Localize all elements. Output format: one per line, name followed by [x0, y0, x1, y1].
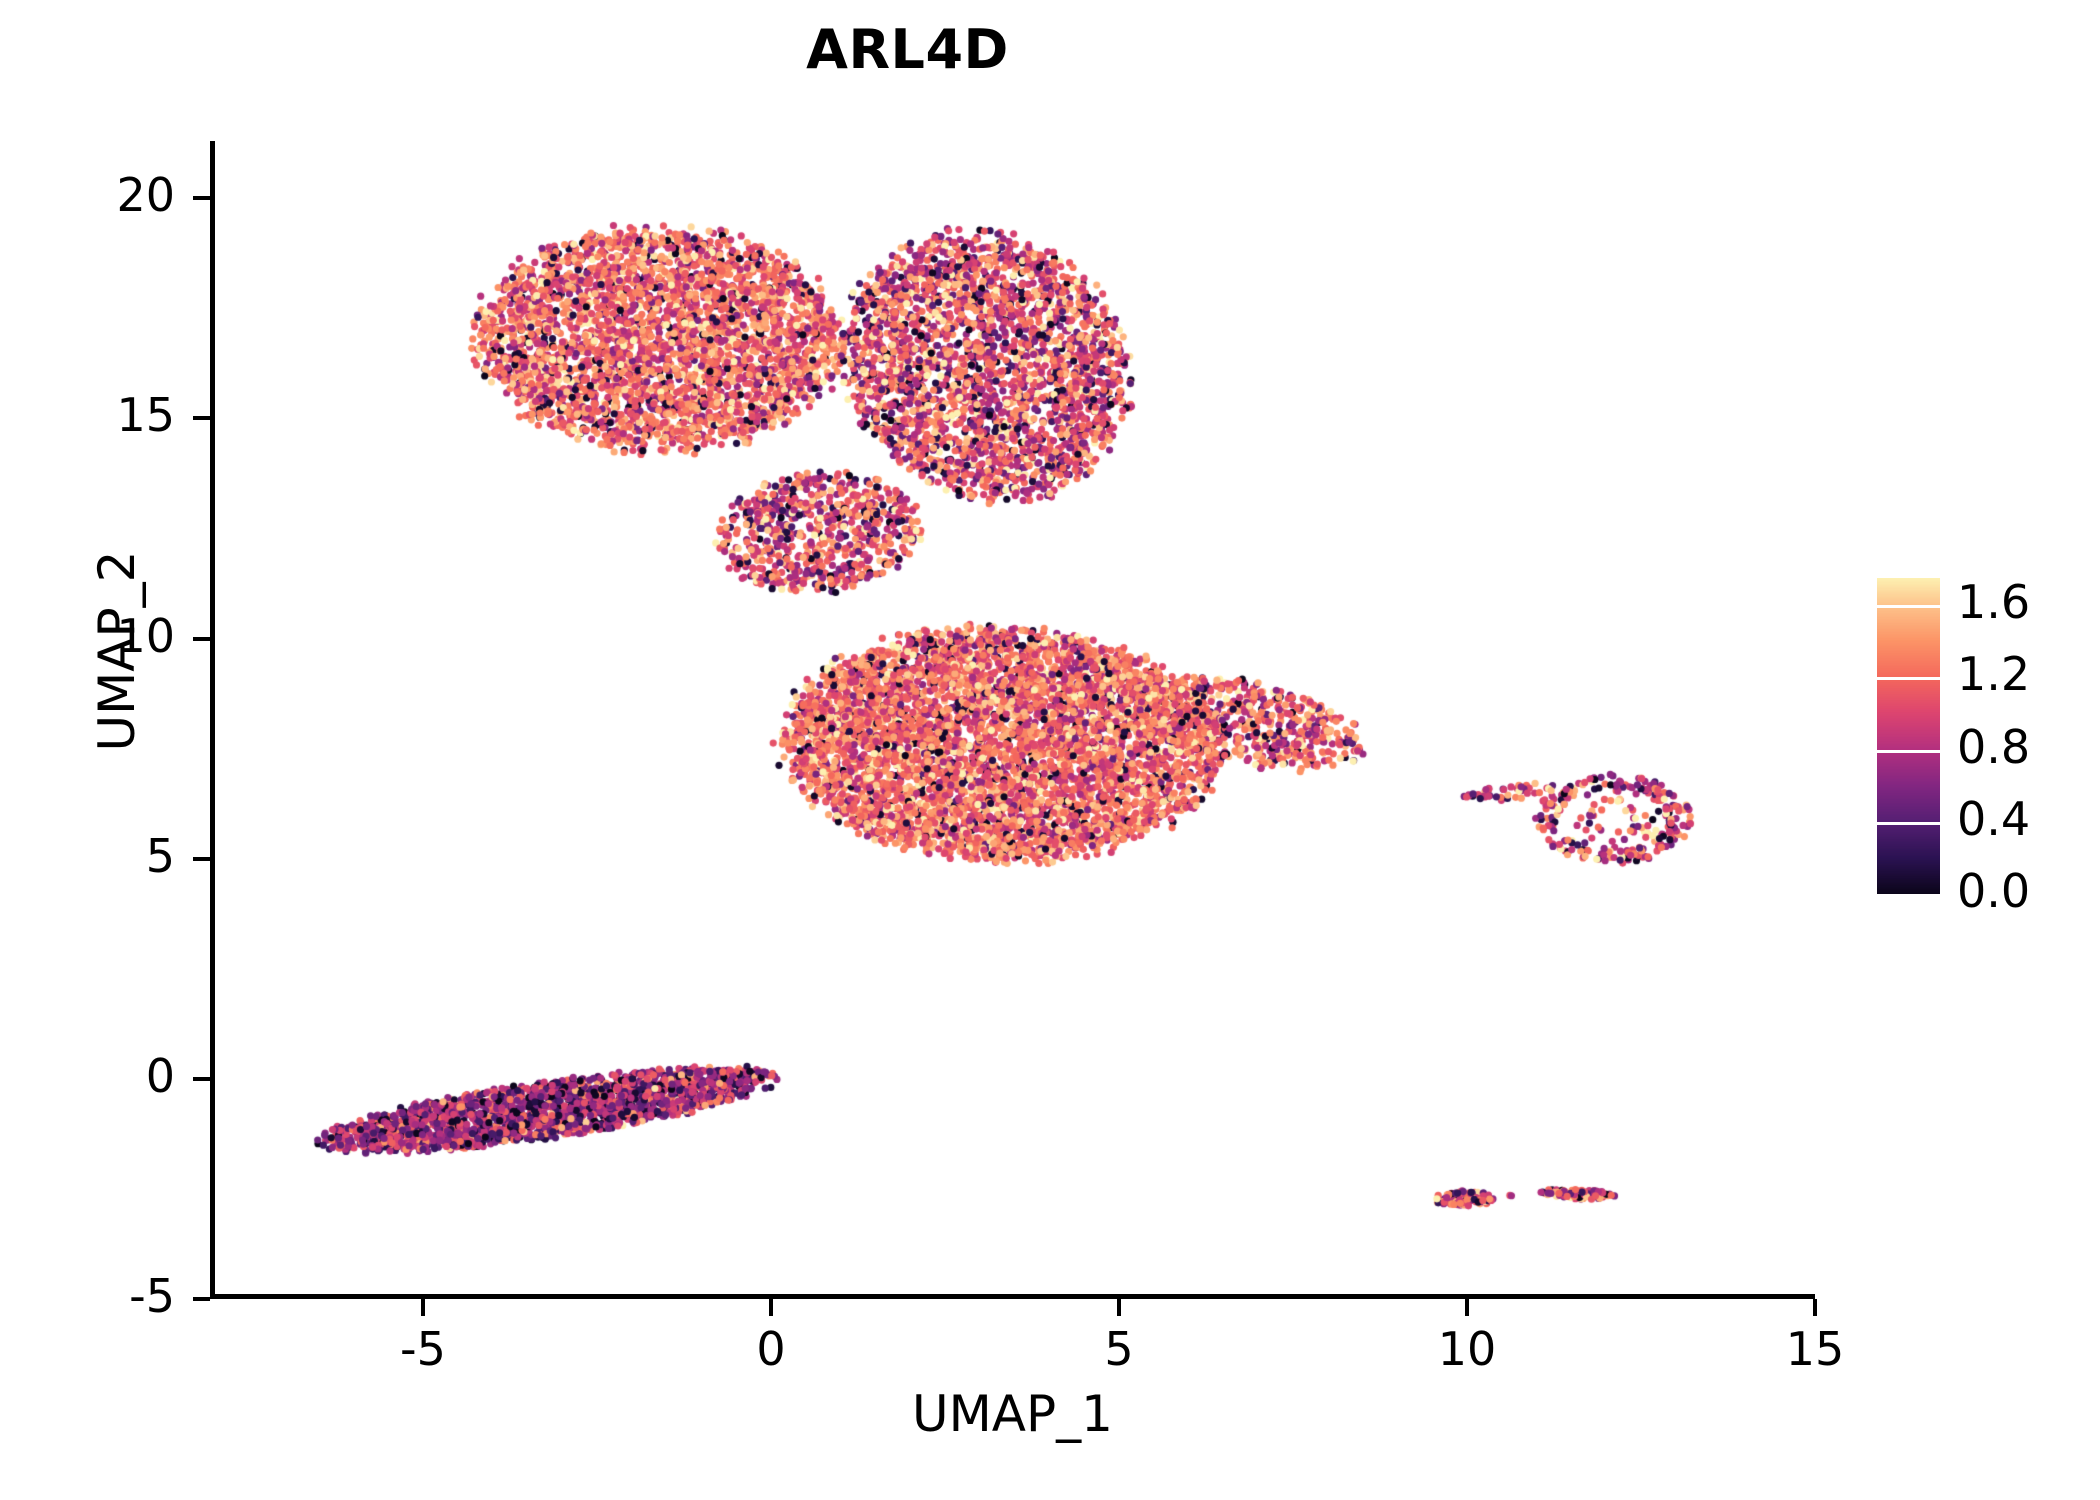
- x-tick-label: 10: [1387, 1326, 1547, 1372]
- scatter-points-layer: [210, 141, 1815, 1299]
- colorbar-tick-label: 0.0: [1957, 868, 2030, 914]
- y-tick-mark: [193, 1297, 210, 1301]
- x-tick-label: 15: [1735, 1326, 1895, 1372]
- colorbar-legend: 0.00.40.81.21.6: [1877, 578, 2077, 898]
- colorbar-tick-mark: [1877, 894, 1940, 897]
- x-tick-mark: [1813, 1299, 1817, 1316]
- y-tick-mark: [193, 1077, 210, 1081]
- colorbar-tick-mark: [1877, 750, 1940, 753]
- colorbar-tick-label: 0.4: [1957, 796, 2030, 842]
- x-axis-label: UMAP_1: [210, 1385, 1815, 1443]
- x-tick-label: -5: [343, 1326, 503, 1372]
- colorbar-tick-label: 1.6: [1957, 579, 2030, 625]
- y-axis-spine: [210, 141, 215, 1299]
- x-tick-label: 0: [691, 1326, 851, 1372]
- y-tick-mark: [193, 416, 210, 420]
- scatter-plot-figure: ARL4D -5051015 -505101520 UMAP_1 UMAP_2 …: [0, 0, 2100, 1500]
- x-tick-mark: [421, 1299, 425, 1316]
- page-title: ARL4D: [0, 18, 1815, 81]
- colorbar-tick-mark: [1877, 677, 1940, 680]
- x-tick-mark: [1117, 1299, 1121, 1316]
- x-tick-mark: [769, 1299, 773, 1316]
- y-axis-label: UMAP_2: [88, 72, 146, 1230]
- x-axis-spine: [210, 1294, 1815, 1299]
- colorbar-tick-mark: [1877, 822, 1940, 825]
- colorbar-tick-label: 1.2: [1957, 651, 2030, 697]
- y-tick-mark: [193, 637, 210, 641]
- y-tick-label: -5: [10, 1273, 175, 1319]
- colorbar-gradient: [1877, 578, 1940, 895]
- x-tick-mark: [1465, 1299, 1469, 1316]
- colorbar-tick-label: 0.8: [1957, 724, 2030, 770]
- plot-axes: -5051015 -505101520: [210, 141, 1815, 1299]
- colorbar-tick-mark: [1877, 605, 1940, 608]
- x-tick-label: 5: [1039, 1326, 1199, 1372]
- y-tick-mark: [193, 196, 210, 200]
- y-tick-mark: [193, 857, 210, 861]
